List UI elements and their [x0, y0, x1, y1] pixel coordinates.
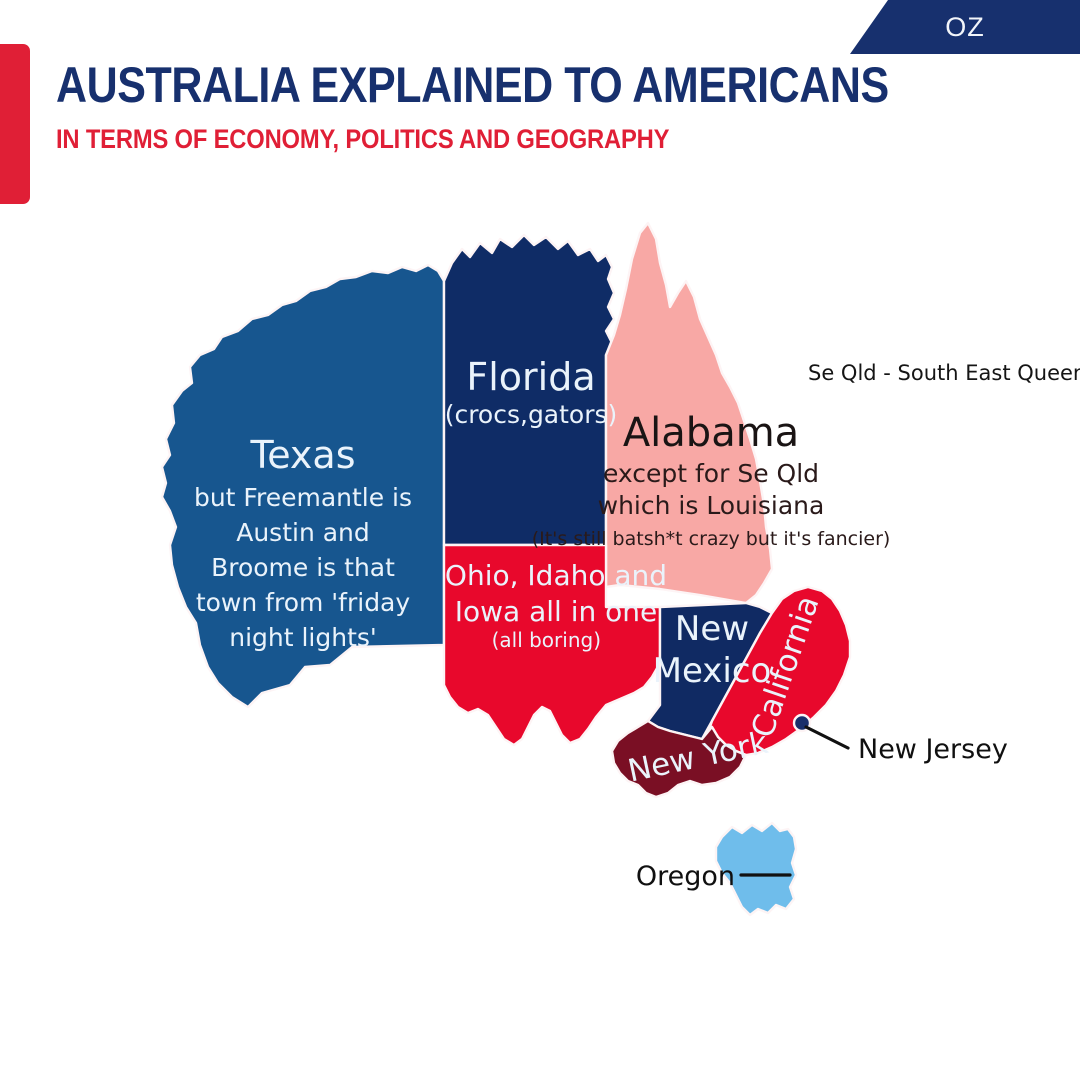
label-alabama-line-2: which is Louisiana	[598, 491, 825, 520]
label-nsw-line-2: Mexico	[653, 651, 772, 691]
label-texas-line-4: town from 'friday	[196, 588, 411, 617]
red-accent-bar	[0, 44, 30, 204]
oz-badge: OZ	[850, 0, 1080, 54]
label-texas-line-3: Broome is that	[211, 553, 395, 582]
label-alabama-title: Alabama	[623, 410, 799, 456]
label-florida-title: Florida	[466, 355, 595, 399]
oz-badge-label: OZ	[945, 12, 985, 43]
label-sa-line-2: Iowa all in one	[455, 595, 658, 628]
annotation-oregon: Oregon	[636, 861, 735, 892]
label-sa-line-3: (all boring)	[492, 628, 601, 652]
label-florida-line-1: (crocs,gators)	[445, 400, 618, 429]
label-texas-line-2: Austin and	[236, 518, 370, 547]
label-texas-title: Texas	[249, 433, 355, 477]
label-alabama-line-3: (It's still batsh*t crazy but it's fanci…	[532, 528, 891, 550]
label-group-florida: Florida (crocs,gators)	[445, 355, 618, 429]
title-block: AUSTRALIA EXPLAINED TO AMERICANS IN TERM…	[56, 60, 956, 153]
label-alabama-line-1: except for Se Qld	[603, 459, 819, 488]
australia-map: Texas but Freemantle is Austin and Broom…	[0, 215, 1080, 975]
page-subtitle: IN TERMS OF ECONOMY, POLITICS AND GEOGRA…	[56, 125, 848, 153]
annotation-se-qld-legend: Se Qld - South East Queensland	[808, 361, 1080, 385]
label-sa-line-1: Ohio, Idaho and	[445, 559, 667, 592]
annotation-new-jersey: New Jersey	[858, 734, 1008, 765]
page-title: AUSTRALIA EXPLAINED TO AMERICANS	[56, 60, 830, 111]
infographic-page: OZ AUSTRALIA EXPLAINED TO AMERICANS IN T…	[0, 0, 1080, 1080]
label-nsw-line-1: New	[675, 609, 749, 649]
label-texas-line-5: night lights'	[229, 623, 377, 652]
new-jersey-pointer-line	[806, 727, 848, 748]
label-texas-line-1: but Freemantle is	[194, 483, 412, 512]
